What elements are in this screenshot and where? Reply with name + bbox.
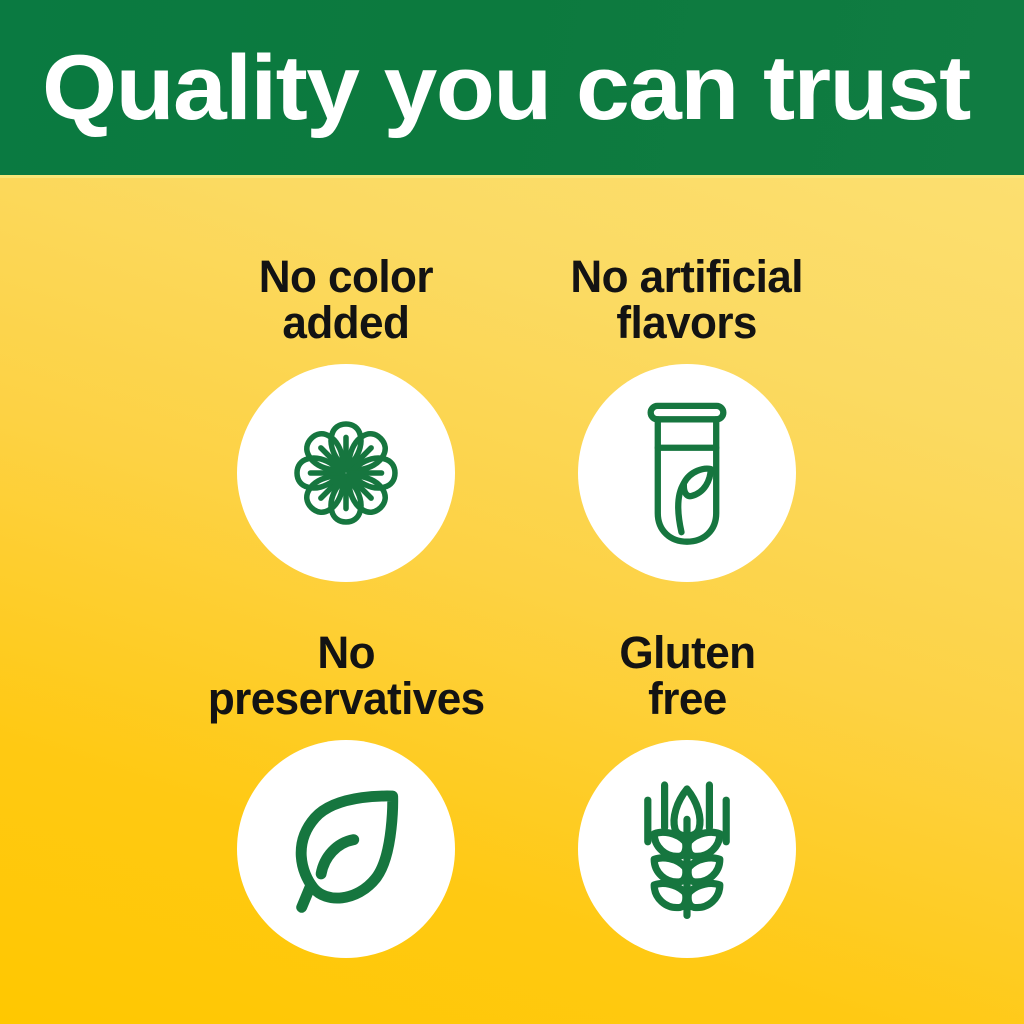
feature-label: No artificial flavors — [571, 254, 804, 346]
icon-disc — [578, 740, 796, 958]
header-banner: Quality you can trust — [0, 0, 1024, 175]
icon-disc — [237, 740, 455, 958]
quality-badge-graphic: Quality you can trust No color added — [0, 0, 1024, 1024]
feature-grid: No color added — [0, 175, 1024, 1024]
flower-icon — [267, 394, 425, 552]
test-tube-sprout-icon — [622, 398, 752, 548]
feature-label: No color added — [259, 254, 433, 346]
icon-disc — [237, 364, 455, 582]
feature-no-artificial-flavors: No artificial flavors — [467, 254, 907, 582]
feature-gluten-free: Gluten free — [467, 630, 907, 958]
wheat-icon — [620, 773, 754, 925]
leaf-icon — [276, 779, 416, 919]
feature-label: Gluten free — [619, 630, 755, 722]
feature-label: No preservatives — [208, 630, 485, 722]
icon-disc — [578, 364, 796, 582]
page-title: Quality you can trust — [0, 42, 970, 134]
